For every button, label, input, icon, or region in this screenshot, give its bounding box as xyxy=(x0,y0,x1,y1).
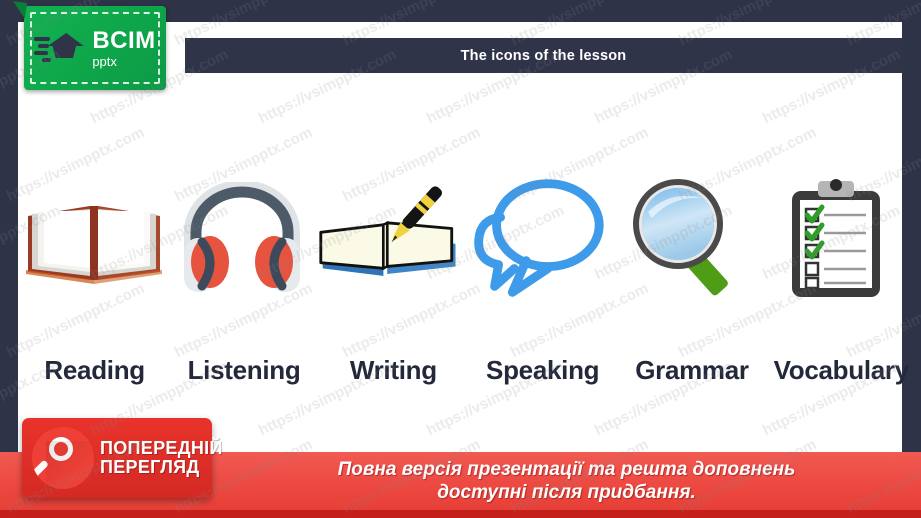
slide-title-bar: The icons of the lesson xyxy=(185,38,902,73)
preview-badge[interactable]: ПОПЕРЕДНІЙ ПЕРЕГЛЯД xyxy=(22,418,212,498)
label-speaking: Speaking xyxy=(468,355,617,386)
headphones-icon xyxy=(182,182,302,294)
graduation-cap-speed-icon xyxy=(34,25,86,71)
magnifier-icon xyxy=(32,427,94,489)
banner-bottom-strip xyxy=(0,510,921,518)
page-title: The icons of the lesson xyxy=(461,48,627,64)
purchase-banner-line2: доступні після придбання. xyxy=(437,481,696,504)
purchase-banner-line1: Повна версія презентації та решта доповн… xyxy=(338,458,796,481)
label-writing: Writing xyxy=(319,355,468,386)
label-listening: Listening xyxy=(169,355,318,386)
bcim-logo[interactable]: BCIM pptx xyxy=(24,6,166,90)
open-book-icon xyxy=(20,184,168,292)
label-reading: Reading xyxy=(20,355,169,386)
speech-bubbles-icon xyxy=(465,173,613,303)
icon-cell-reading xyxy=(20,165,168,310)
purchase-banner-text: Повна версія презентації та решта доповн… xyxy=(212,452,921,510)
logo-subtitle: pptx xyxy=(92,55,155,68)
logo-name: BCIM xyxy=(92,29,155,53)
lesson-icons-row xyxy=(20,165,910,310)
preview-badge-text: ПОПЕРЕДНІЙ ПЕРЕГЛЯД xyxy=(100,439,223,476)
icon-cell-grammar xyxy=(614,165,762,310)
label-vocabulary: Vocabulary xyxy=(767,355,916,386)
icon-cell-writing xyxy=(317,165,465,310)
icon-cell-listening xyxy=(168,165,316,310)
icon-cell-speaking xyxy=(465,165,613,310)
lesson-labels-row: Reading Listening Writing Speaking Gramm… xyxy=(20,352,916,388)
magnifying-glass-icon xyxy=(622,176,754,300)
notebook-pen-icon xyxy=(317,182,465,294)
clipboard-checklist-icon xyxy=(784,175,888,301)
preview-badge-line2: ПЕРЕГЛЯД xyxy=(100,458,223,477)
slide-stage: The icons of the lesson BCIM pptx xyxy=(0,0,921,518)
icon-cell-vocabulary xyxy=(762,165,910,310)
label-grammar: Grammar xyxy=(617,355,766,386)
preview-badge-line1: ПОПЕРЕДНІЙ xyxy=(100,439,223,458)
